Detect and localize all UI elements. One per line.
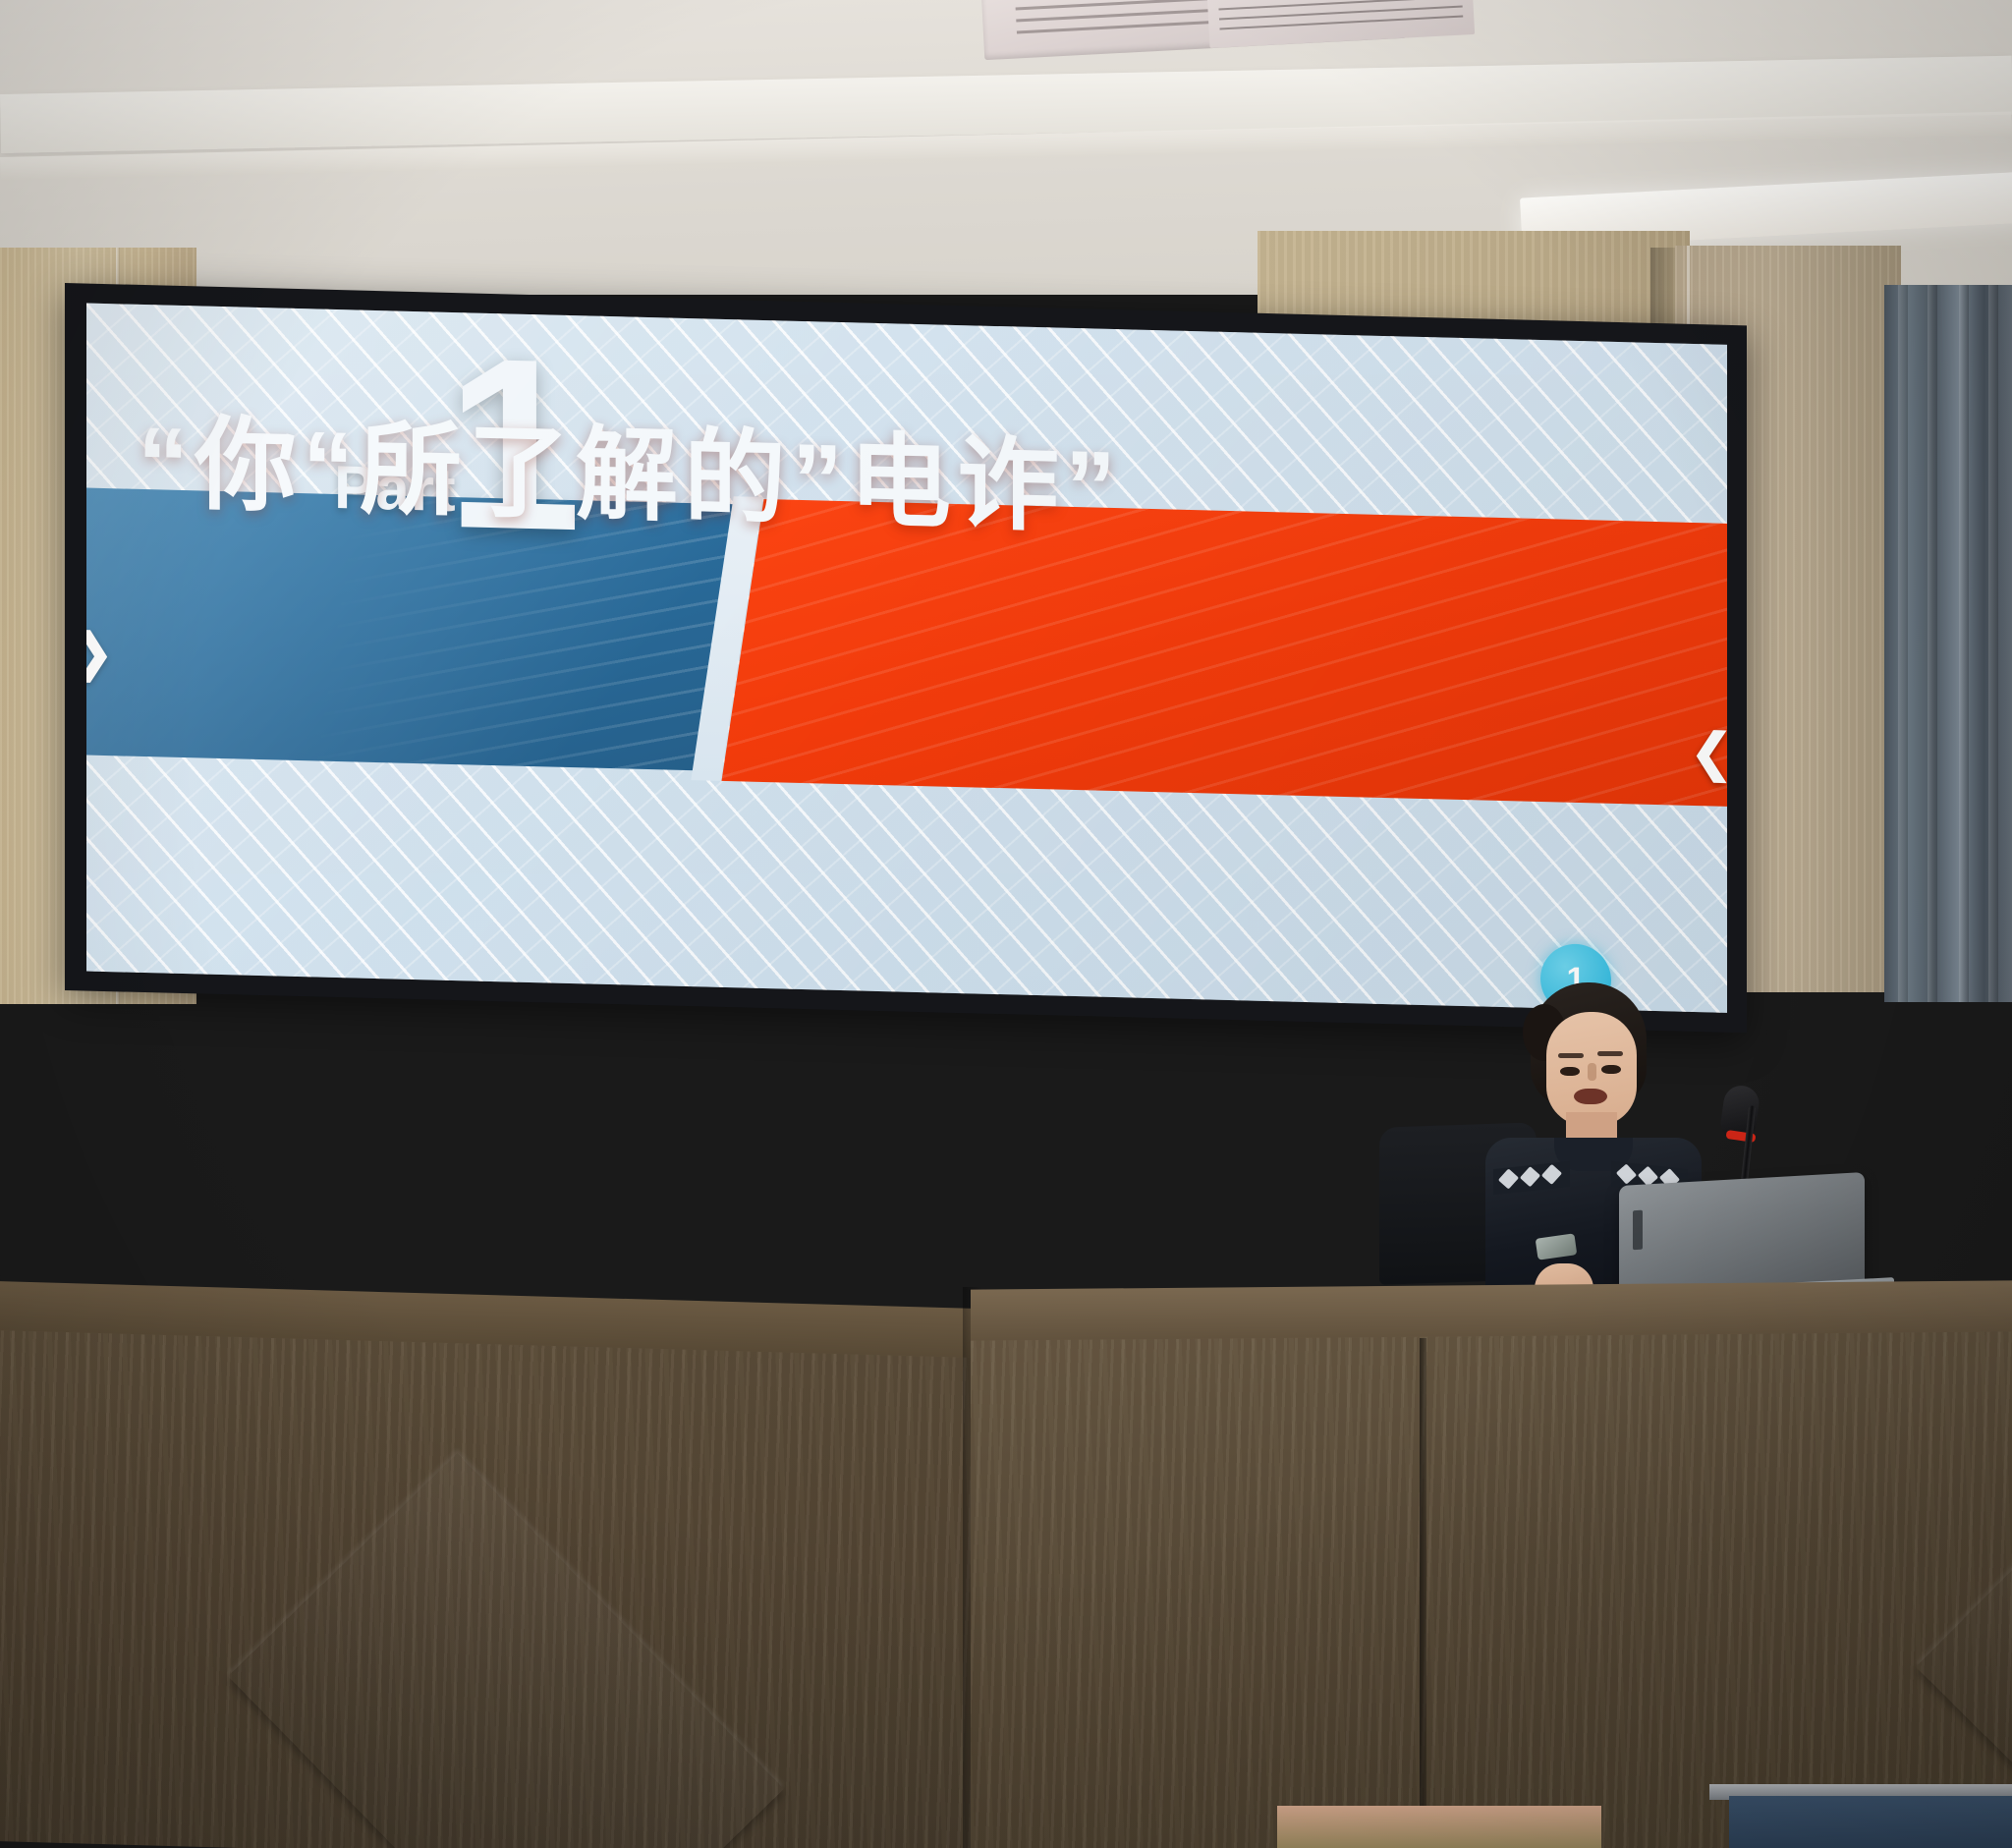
foreground-seat-back (1729, 1796, 2012, 1848)
projection-screen-frame: Part 1 “你“所了解的”电诈” ❯ ❮ 1 (65, 283, 1747, 1033)
screen-glare (86, 304, 1727, 1013)
projection-screen[interactable]: Part 1 “你“所了解的”电诈” ❯ ❮ 1 (86, 304, 1727, 1013)
presentation-room-photo: Part 1 “你“所了解的”电诈” ❯ ❮ 1 (0, 0, 2012, 1848)
presenter-mouth (1574, 1089, 1607, 1104)
podium-panel-left (0, 1330, 982, 1848)
laptop-brand-logo (1633, 1210, 1643, 1251)
foreground-desk-edge (1277, 1806, 1601, 1848)
ceiling-air-vent-secondary (1207, 0, 1475, 48)
podium-panel-right (971, 1331, 2012, 1848)
podium-panel-seam (1420, 1338, 1426, 1848)
presenter-nose (1588, 1063, 1596, 1081)
window-curtain (1884, 285, 2012, 1002)
